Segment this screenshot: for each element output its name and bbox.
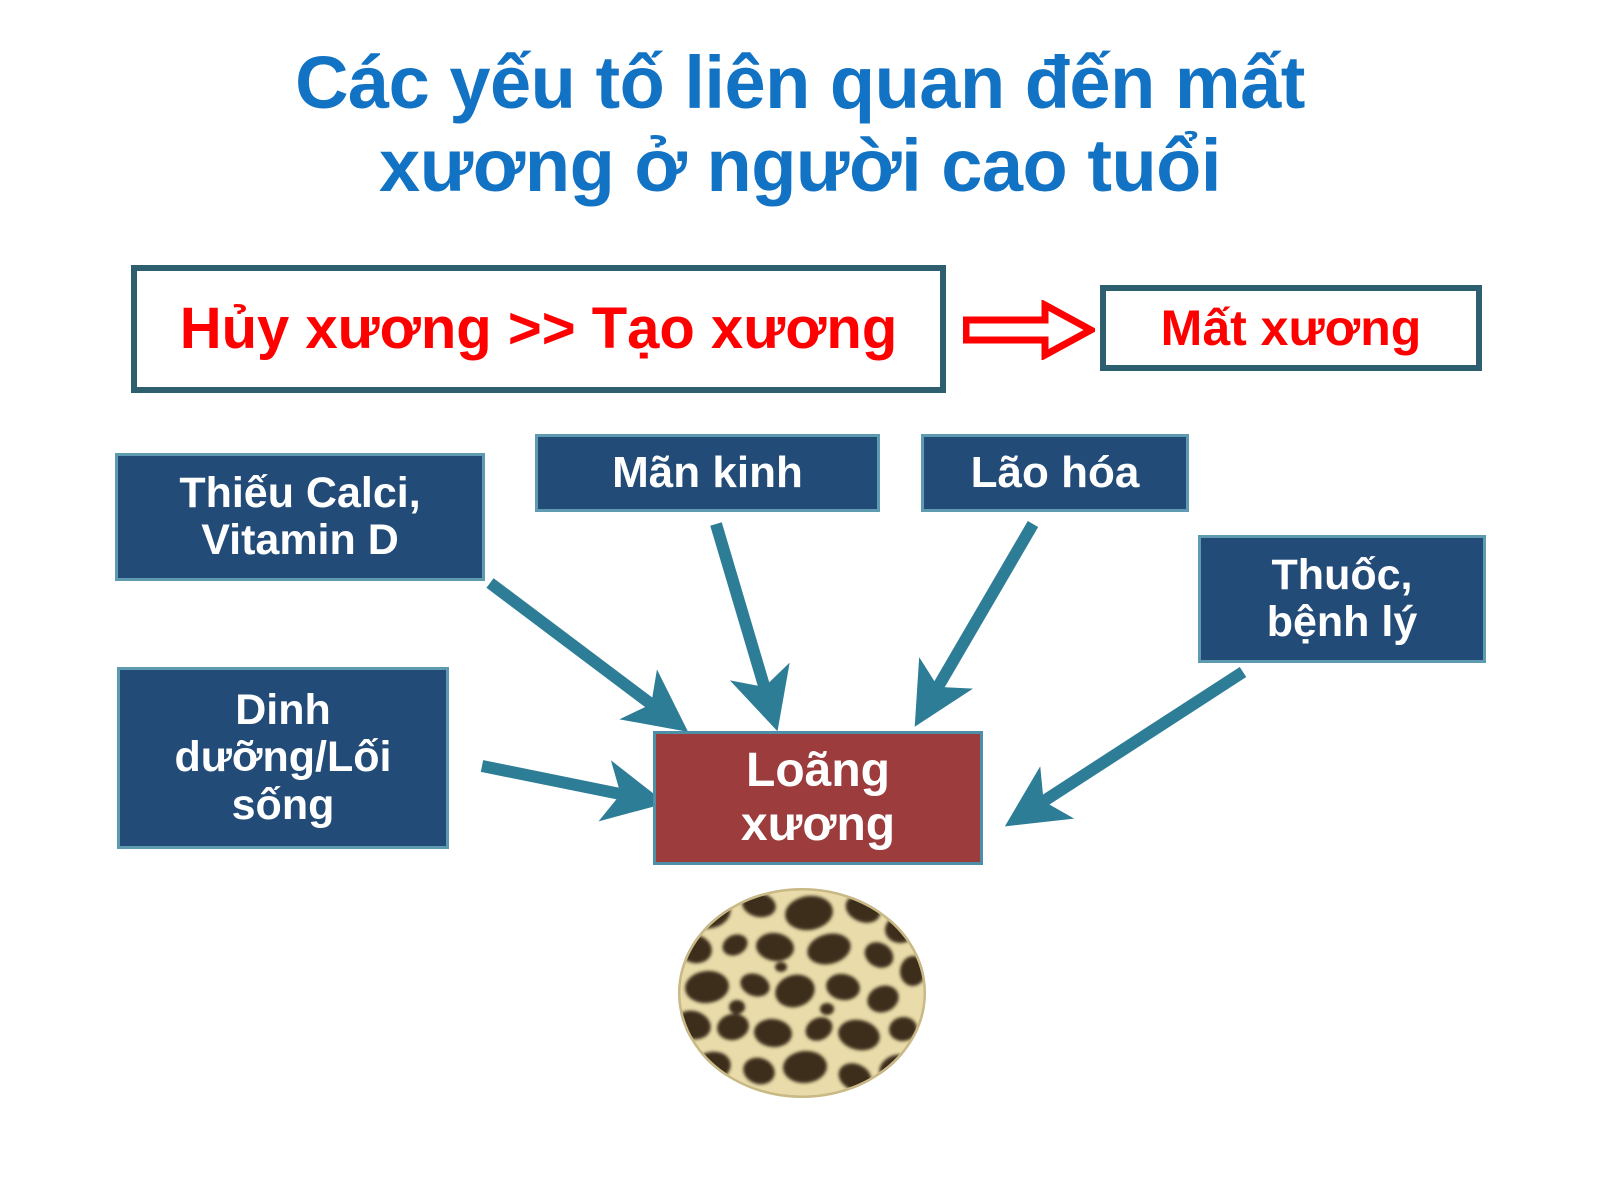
factor-box-dinh-duong-loi-song: Dinh dưỡng/Lối sống bbox=[117, 667, 449, 849]
bone-balance-label: Hủy xương >> Tạo xương bbox=[180, 299, 898, 360]
bone-loss-box: Mất xương bbox=[1100, 285, 1482, 371]
bone-loss-label: Mất xương bbox=[1161, 302, 1422, 355]
trabecular-bone-micrograph-image bbox=[677, 887, 927, 1099]
factor-box-calci: Thiếu Calci, Vitamin D bbox=[115, 453, 485, 581]
block-arrow-right-icon bbox=[963, 300, 1095, 360]
arrow-dinhduong-to-outcome bbox=[482, 766, 640, 798]
bone-balance-box: Hủy xương >> Tạo xương bbox=[131, 265, 946, 393]
factor-box-thuoc-benh-ly: Thuốc, bệnh lý bbox=[1198, 535, 1486, 663]
arrow-calci-to-outcome bbox=[490, 583, 667, 716]
factor-box-lao-hoa: Lão hóa bbox=[921, 434, 1189, 512]
arrow-mankinh-to-outcome bbox=[716, 524, 770, 706]
page-title: Các yếu tố liên quan đến mất xương ở ngư… bbox=[150, 42, 1450, 208]
factor-box-man-kinh: Mãn kinh bbox=[535, 434, 880, 512]
outcome-box-loang-xuong: Loãng xương bbox=[653, 731, 983, 865]
arrow-thuoc-to-outcome bbox=[1027, 672, 1243, 812]
slide-canvas: Các yếu tố liên quan đến mất xương ở ngư… bbox=[0, 0, 1600, 1200]
arrow-laohoa-to-outcome bbox=[928, 524, 1033, 704]
